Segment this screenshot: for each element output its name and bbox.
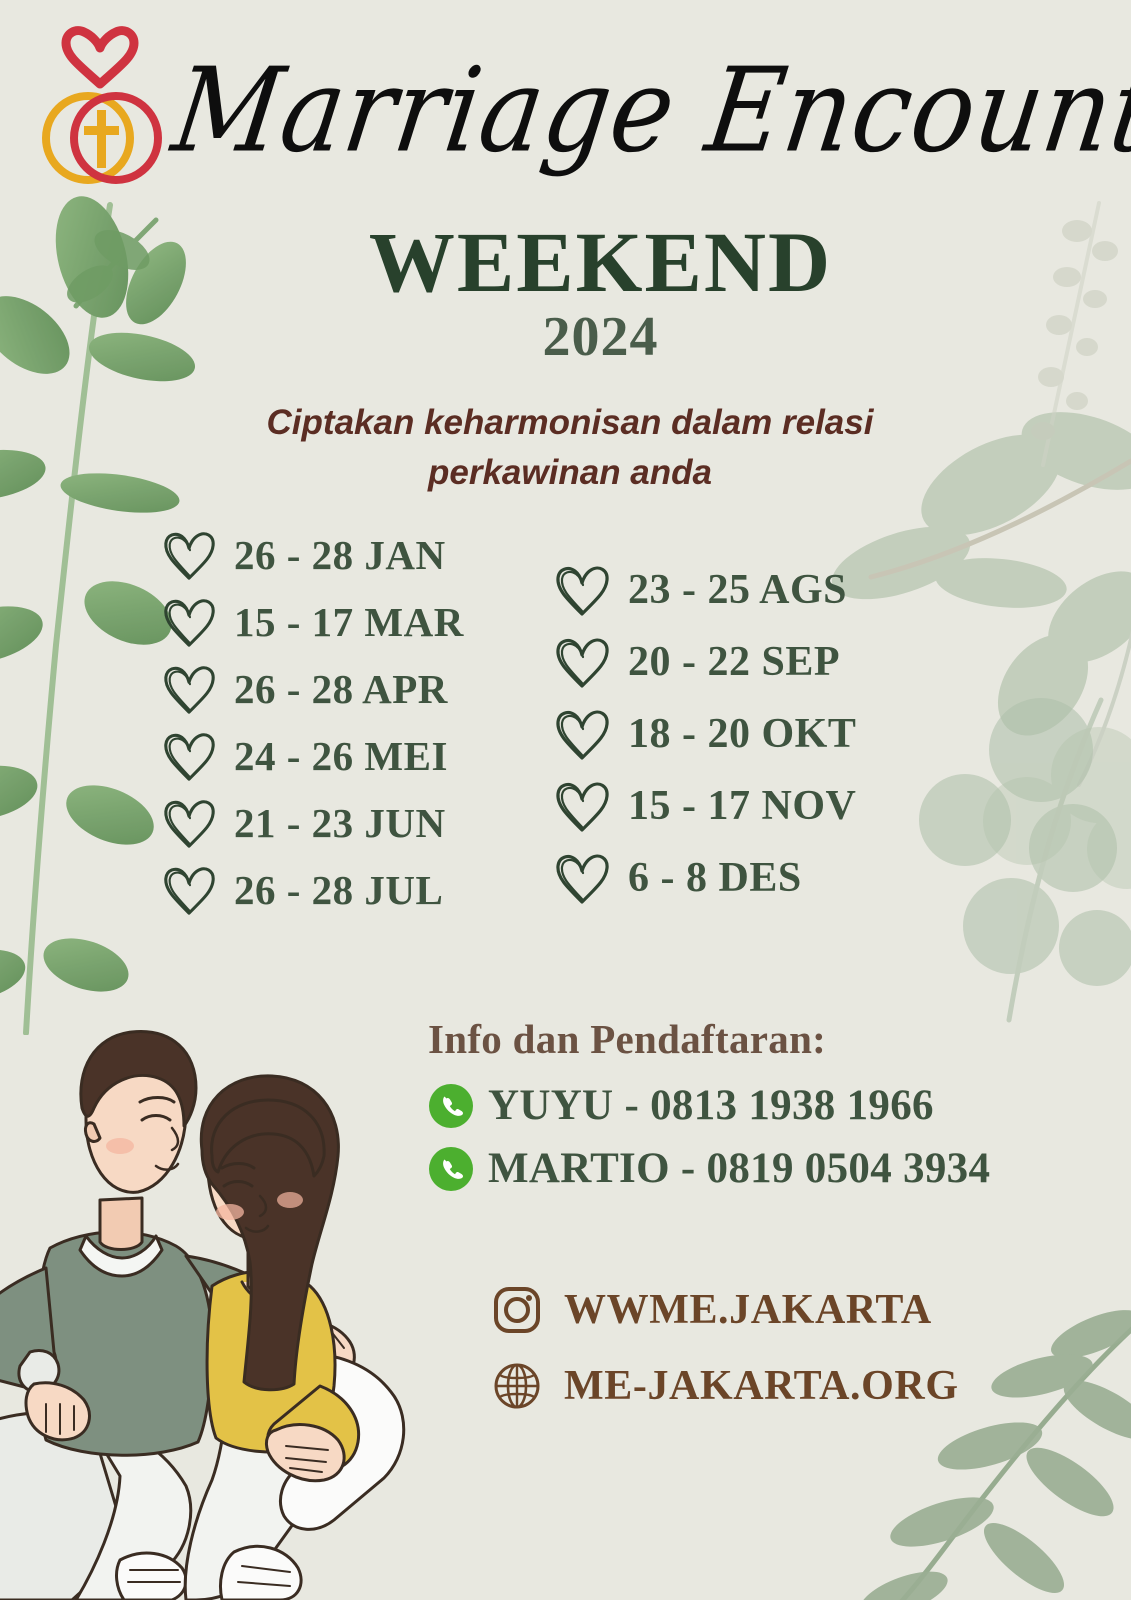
social-item-instagram[interactable]: WWME.JAKARTA xyxy=(492,1285,1131,1335)
instagram-icon[interactable] xyxy=(492,1285,542,1335)
date-label: 26 - 28 JAN xyxy=(234,531,446,579)
heart-outline-icon xyxy=(552,778,612,834)
year-label: 2024 xyxy=(0,305,1131,369)
tagline-line-2: perkawinan anda xyxy=(190,448,950,498)
heart-outline-icon xyxy=(160,729,218,783)
date-label: 26 - 28 APR xyxy=(234,665,448,713)
date-item: 18 - 20 OKT xyxy=(552,706,856,762)
main-title: WEEKEND xyxy=(0,212,1131,312)
heart-outline-icon xyxy=(160,528,218,582)
heart-outline-icon xyxy=(552,706,612,762)
poster-canvas: Marriage Encounter WEEKEND 2024 Ciptakan… xyxy=(0,0,1131,1600)
contact-block: Info dan Pendaftaran: YUYU - 0813 1938 1… xyxy=(428,1015,1118,1207)
date-label: 15 - 17 MAR xyxy=(234,598,464,646)
info-heading: Info dan Pendaftaran: xyxy=(428,1015,1118,1063)
globe-icon[interactable] xyxy=(492,1361,542,1411)
date-label: 26 - 28 JUL xyxy=(234,866,443,914)
marriage-encounter-logo xyxy=(36,26,164,196)
tagline-line-1: Ciptakan keharmonisan dalam relasi xyxy=(190,398,950,448)
heart-outline-icon xyxy=(160,796,218,850)
tagline: Ciptakan keharmonisan dalam relasi perka… xyxy=(190,398,950,497)
script-title: Marriage Encounter xyxy=(167,52,983,168)
social-label: WWME.JAKARTA xyxy=(564,1286,932,1334)
heart-outline-icon xyxy=(552,850,612,906)
heart-outline-icon xyxy=(160,863,218,917)
date-item: 26 - 28 JUL xyxy=(160,863,464,917)
date-item: 26 - 28 JAN xyxy=(160,528,464,582)
date-label: 23 - 25 AGS xyxy=(628,566,847,614)
date-item: 26 - 28 APR xyxy=(160,662,464,716)
contact-item[interactable]: MARTIO - 0819 0504 3934 xyxy=(428,1144,1118,1193)
eucalyptus-mid-right-decoration xyxy=(891,680,1131,1040)
heart-outline-icon xyxy=(160,595,218,649)
date-item: 15 - 17 MAR xyxy=(160,595,464,649)
date-label: 21 - 23 JUN xyxy=(234,799,446,847)
heart-outline-icon xyxy=(552,562,612,618)
contact-item[interactable]: YUYU - 0813 1938 1966 xyxy=(428,1081,1118,1130)
date-label: 24 - 26 MEI xyxy=(234,732,448,780)
date-label: 18 - 20 OKT xyxy=(628,710,856,758)
date-item: 24 - 26 MEI xyxy=(160,729,464,783)
date-item: 20 - 22 SEP xyxy=(552,634,856,690)
date-item: 21 - 23 JUN xyxy=(160,796,464,850)
date-label: 6 - 8 DES xyxy=(628,854,802,902)
date-item: 6 - 8 DES xyxy=(552,850,856,906)
heart-outline-icon xyxy=(552,634,612,690)
contact-label: YUYU - 0813 1938 1966 xyxy=(488,1081,934,1130)
dates-right-column: 23 - 25 AGS 20 - 22 SEP 18 - 20 OKT 15 -… xyxy=(552,562,856,922)
whatsapp-icon[interactable] xyxy=(428,1083,474,1129)
social-item-website[interactable]: ME-JAKARTA.ORG xyxy=(492,1361,1131,1411)
social-label: ME-JAKARTA.ORG xyxy=(564,1362,959,1410)
social-block: WWME.JAKARTA ME-JAKARTA.ORG xyxy=(492,1285,1131,1437)
contact-label: MARTIO - 0819 0504 3934 xyxy=(488,1144,990,1193)
whatsapp-icon[interactable] xyxy=(428,1146,474,1192)
couple-illustration xyxy=(0,1000,450,1600)
date-item: 23 - 25 AGS xyxy=(552,562,856,618)
date-item: 15 - 17 NOV xyxy=(552,778,856,834)
heart-outline-icon xyxy=(160,662,218,716)
dates-left-column: 26 - 28 JAN 15 - 17 MAR 26 - 28 APR 24 -… xyxy=(160,528,464,930)
date-label: 15 - 17 NOV xyxy=(628,782,856,830)
date-label: 20 - 22 SEP xyxy=(628,638,840,686)
